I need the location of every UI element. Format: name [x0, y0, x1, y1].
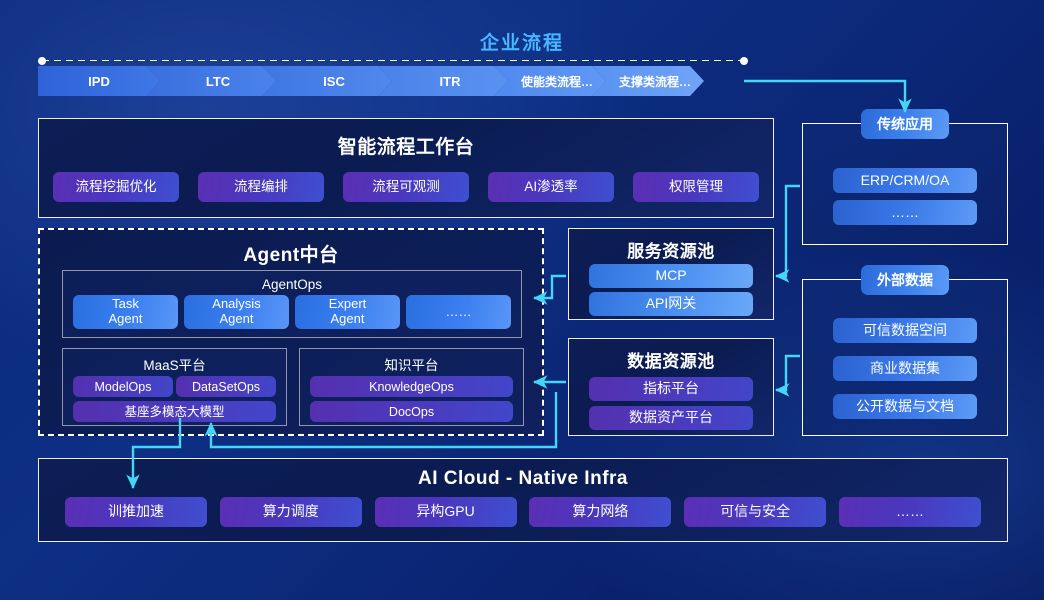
data-pool-chip-metrics-platform[interactable]: 指标平台 [589, 377, 753, 401]
service-resource-pool-panel: 服务资源池 MCP API网关 [568, 228, 774, 320]
workbench-panel: 智能流程工作台 流程挖掘优化 流程编排 流程可观测 AI渗透率 权限管理 [38, 118, 774, 218]
agent-card-analysis-line2: Agent [220, 312, 254, 327]
maas-row-foundation: 基座多模态大模型 [73, 401, 276, 422]
data-resource-pool-panel: 数据资源池 指标平台 数据资产平台 [568, 338, 774, 436]
agent-card-task-line1: Task [112, 297, 139, 312]
workbench-chip-process-mining[interactable]: 流程挖掘优化 [53, 172, 179, 202]
infra-chip-trust-security[interactable]: 可信与安全 [684, 497, 826, 527]
flow-stage-ipd[interactable]: IPD [38, 66, 160, 96]
page-title: 企业流程 [0, 28, 1044, 55]
workbench-chip-permissions[interactable]: 权限管理 [633, 172, 759, 202]
agent-platform-panel: Agent中台 AgentOps Task Agent Analysis Age… [38, 228, 544, 436]
external-data-badge: 外部数据 [861, 265, 949, 295]
infra-chip-compute-scheduling[interactable]: 算力调度 [220, 497, 362, 527]
infra-chip-row: 训推加速 算力调度 异构GPU 算力网络 可信与安全 …… [65, 497, 981, 527]
workbench-chip-orchestration[interactable]: 流程编排 [198, 172, 324, 202]
traditional-apps-chip-more[interactable]: …… [833, 200, 977, 225]
rail-dashed-line [42, 60, 744, 61]
infra-chip-more[interactable]: …… [839, 497, 981, 527]
rail-dot-left [38, 57, 46, 65]
flow-stage-itr[interactable]: ITR [378, 66, 508, 96]
maas-chip-modelops[interactable]: ModelOps [73, 376, 173, 397]
agent-card-analysis-line1: Analysis [212, 297, 260, 312]
agent-card-more[interactable]: …… [406, 295, 511, 329]
infra-chip-heterogeneous-gpu[interactable]: 异构GPU [375, 497, 517, 527]
knowledge-row-2: DocOps [310, 401, 513, 422]
agentops-chip-row: Task Agent Analysis Agent Expert Agent …… [73, 295, 511, 329]
knowledge-chip-knowledgeops[interactable]: KnowledgeOps [310, 376, 513, 397]
maas-chip-foundation-model[interactable]: 基座多模态大模型 [73, 401, 276, 422]
workbench-chip-row: 流程挖掘优化 流程编排 流程可观测 AI渗透率 权限管理 [53, 172, 759, 202]
connector-external-data-to-data-pool [776, 356, 800, 390]
process-flow-chevrons: IPD LTC ISC ITR 使能类流程… 支撑类流程… [38, 66, 690, 96]
agent-card-expert[interactable]: Expert Agent [295, 295, 400, 329]
flow-stage-ltc[interactable]: LTC [146, 66, 276, 96]
traditional-apps-box: 传统应用 ERP/CRM/OA …… [802, 123, 1008, 245]
knowledge-platform-box: 知识平台 KnowledgeOps DocOps [299, 348, 524, 426]
external-data-box: 外部数据 可信数据空间 商业数据集 公开数据与文档 [802, 279, 1008, 436]
agent-card-task[interactable]: Task Agent [73, 295, 178, 329]
data-pool-chip-data-asset-platform[interactable]: 数据资产平台 [589, 406, 753, 430]
agent-card-expert-line2: Agent [331, 312, 365, 327]
infra-chip-compute-network[interactable]: 算力网络 [529, 497, 671, 527]
agent-card-more-label: …… [446, 305, 472, 320]
process-rail [38, 57, 748, 65]
service-pool-chip-api-gateway[interactable]: API网关 [589, 292, 753, 316]
maas-chip-datasetops[interactable]: DataSetOps [176, 376, 276, 397]
agent-card-task-line2: Agent [109, 312, 143, 327]
traditional-apps-chip-erp-crm-oa[interactable]: ERP/CRM/OA [833, 168, 977, 193]
maas-row-ops: ModelOps DataSetOps [73, 376, 276, 397]
workbench-chip-ai-penetration[interactable]: AI渗透率 [488, 172, 614, 202]
workbench-chip-observability[interactable]: 流程可观测 [343, 172, 469, 202]
agentops-title: AgentOps [63, 277, 521, 292]
agent-platform-title: Agent中台 [40, 240, 542, 267]
agentops-box: AgentOps Task Agent Analysis Agent Exper… [62, 270, 522, 338]
agent-card-analysis[interactable]: Analysis Agent [184, 295, 289, 329]
infra-panel: AI Cloud - Native Infra 训推加速 算力调度 异构GPU … [38, 458, 1008, 542]
flow-stage-isc[interactable]: ISC [262, 66, 392, 96]
data-resource-pool-title: 数据资源池 [569, 347, 773, 372]
knowledge-platform-title: 知识平台 [300, 354, 523, 374]
service-pool-chip-mcp[interactable]: MCP [589, 264, 753, 288]
external-data-chip-commercial-dataset[interactable]: 商业数据集 [833, 356, 977, 381]
connector-flow-to-traditional-apps [744, 81, 905, 112]
flow-stage-enabling[interactable]: 使能类流程… [494, 66, 606, 96]
knowledge-row-1: KnowledgeOps [310, 376, 513, 397]
workbench-title: 智能流程工作台 [39, 132, 773, 159]
maas-platform-box: MaaS平台 ModelOps DataSetOps 基座多模态大模型 [62, 348, 287, 426]
agent-card-expert-line1: Expert [329, 297, 367, 312]
infra-title: AI Cloud - Native Infra [39, 468, 1007, 490]
maas-platform-title: MaaS平台 [63, 354, 286, 374]
rail-dot-right [740, 57, 748, 65]
knowledge-chip-docops[interactable]: DocOps [310, 401, 513, 422]
service-resource-pool-title: 服务资源池 [569, 237, 773, 262]
connector-traditional-apps-to-service-pool [776, 186, 800, 276]
external-data-chip-trusted-space[interactable]: 可信数据空间 [833, 318, 977, 343]
external-data-chip-public-data-docs[interactable]: 公开数据与文档 [833, 394, 977, 419]
traditional-apps-badge: 传统应用 [861, 109, 949, 139]
infra-chip-training-inference-accel[interactable]: 训推加速 [65, 497, 207, 527]
flow-stage-supporting[interactable]: 支撑类流程… [592, 66, 704, 96]
